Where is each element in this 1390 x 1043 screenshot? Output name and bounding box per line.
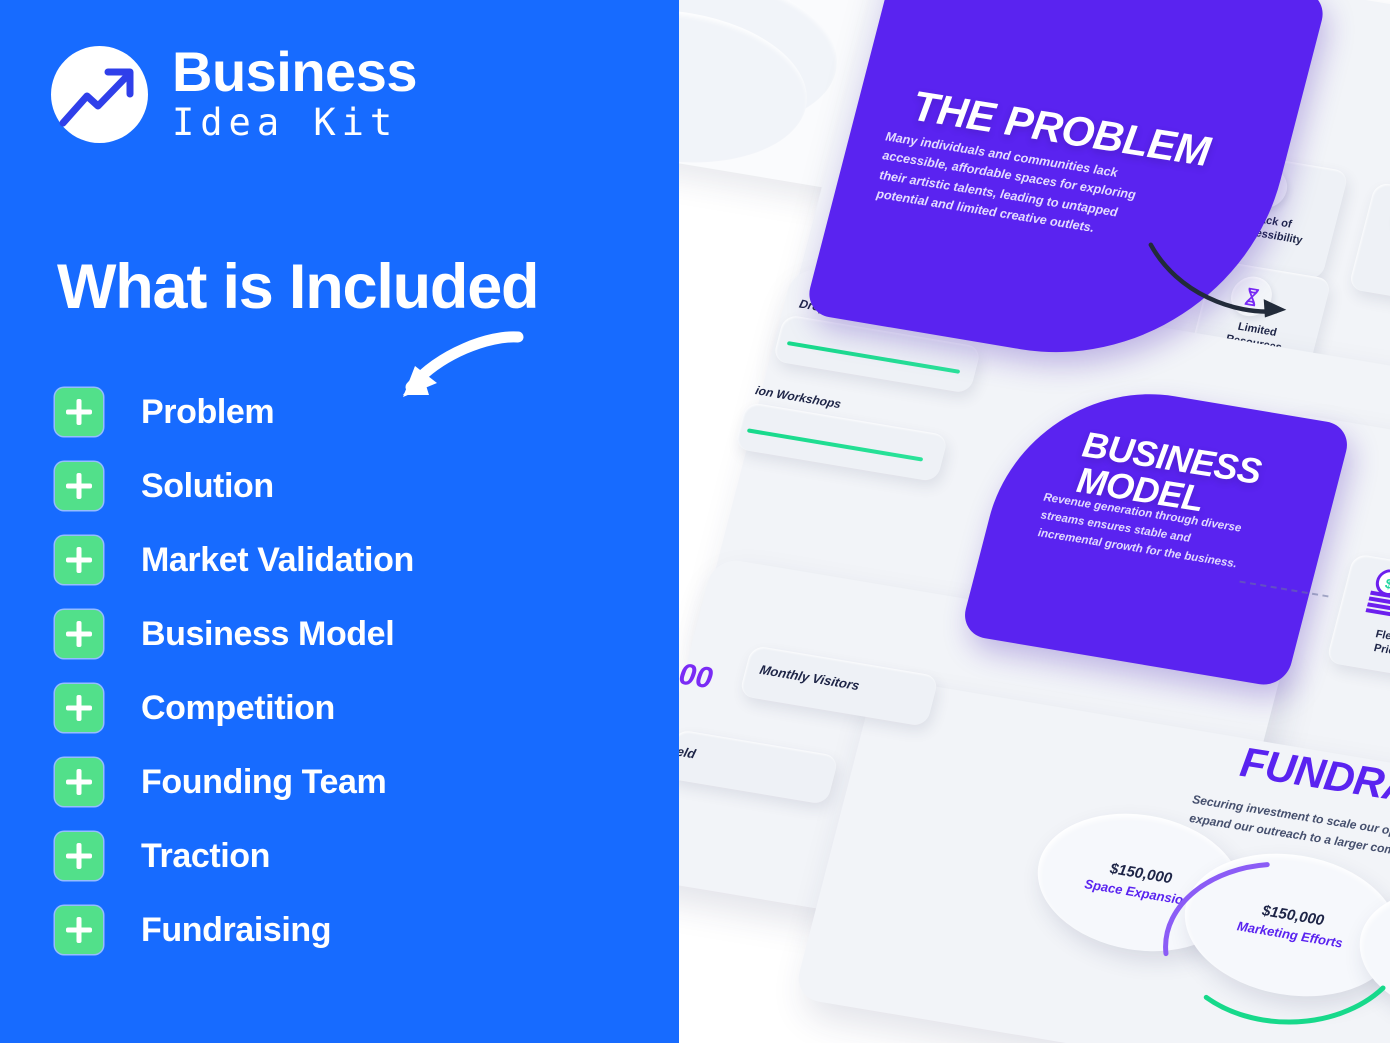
plus-icon	[55, 758, 103, 806]
plus-icon	[55, 906, 103, 954]
list-item[interactable]: Business Model	[55, 610, 414, 658]
list-item[interactable]: Fundraising	[55, 906, 414, 954]
list-item-label: Fundraising	[141, 911, 331, 950]
list-item-label: Business Model	[141, 615, 394, 654]
left-blue-panel: Business Idea Kit What is Included Probl…	[0, 0, 679, 1043]
brand-logo: Business Idea Kit	[51, 45, 417, 145]
growth-chart-arrow-icon	[51, 46, 148, 143]
list-item-label: Market Validation	[141, 541, 414, 580]
plus-icon	[55, 684, 103, 732]
plus-icon	[55, 832, 103, 880]
list-item[interactable]: Problem	[55, 388, 414, 436]
list-item[interactable]: Traction	[55, 832, 414, 880]
tile-label: Monthly Visitors	[758, 662, 861, 694]
tile-label: High Cost	[1362, 239, 1390, 271]
included-items-list: Problem Solution Market Validation Busin…	[55, 388, 414, 980]
list-item[interactable]: Solution	[55, 462, 414, 510]
list-item[interactable]: Market Validation	[55, 536, 414, 584]
slides-showcase: THE PROBLEM Many individuals and communi…	[679, 0, 1390, 1043]
page-title: What is Included	[57, 251, 538, 323]
plus-icon	[55, 536, 103, 584]
plus-icon	[55, 610, 103, 658]
brand-name: Business	[172, 45, 417, 98]
fundraising-progress-ring	[1139, 815, 1390, 1043]
tile-label: eld	[679, 744, 697, 763]
traction-metric-number: 00	[679, 658, 715, 697]
list-item-label: Traction	[141, 837, 270, 876]
tile-label: Flexible Pricing	[1333, 622, 1390, 668]
brand-subtitle: Idea Kit	[172, 102, 417, 145]
list-item-label: Competition	[141, 689, 335, 728]
plus-icon	[55, 388, 103, 436]
list-item-label: Problem	[141, 393, 274, 432]
plus-icon	[55, 462, 103, 510]
list-item[interactable]: Competition	[55, 684, 414, 732]
list-item-label: Founding Team	[141, 763, 386, 802]
list-item-label: Solution	[141, 467, 274, 506]
list-item[interactable]: Founding Team	[55, 758, 414, 806]
